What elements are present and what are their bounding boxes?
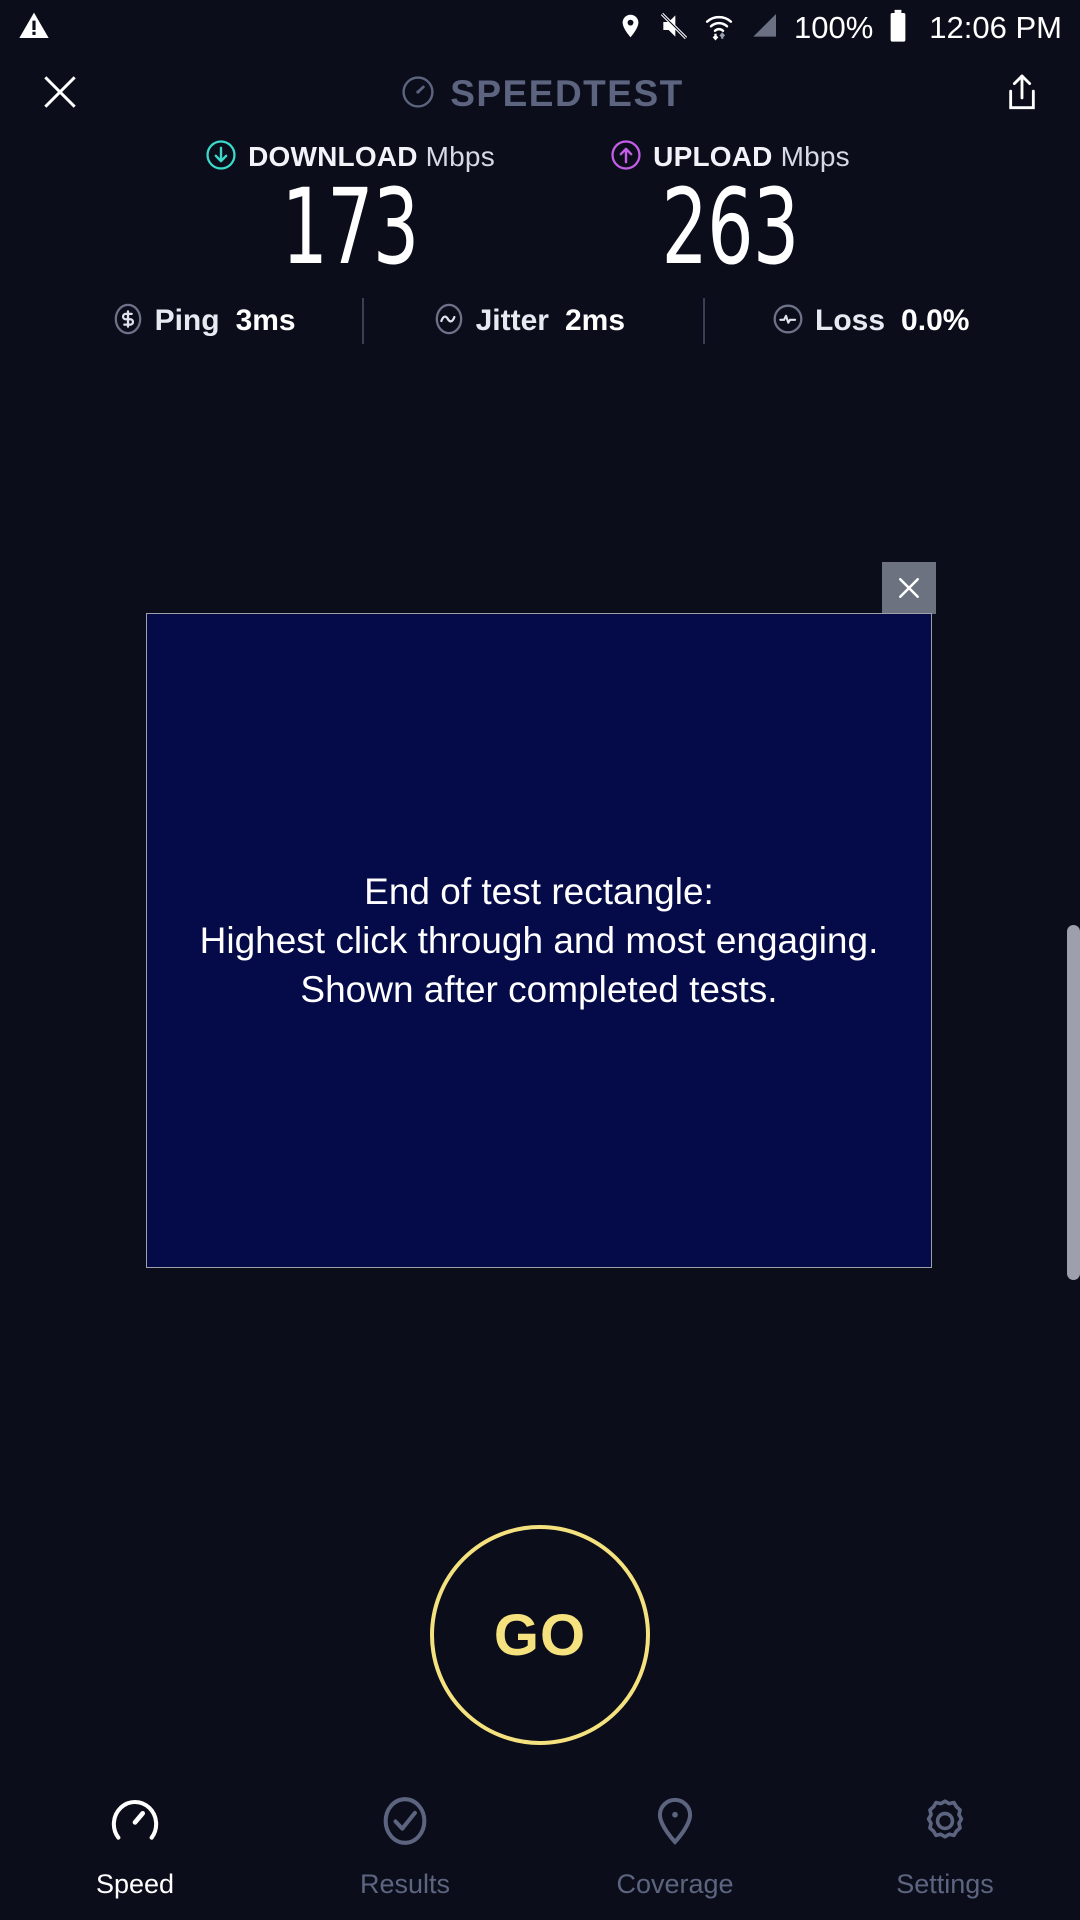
close-icon[interactable] [38,70,82,119]
volume-muted-icon [658,10,690,47]
clock-time: 12:06 PM [929,10,1062,46]
status-bar-right: 100% 12:06 PM [617,9,1062,48]
loss-metric: Loss 0.0% [771,302,969,341]
gear-icon [916,1794,974,1853]
download-value: 173 [202,174,498,280]
loss-icon [771,302,805,341]
nav-label-speed: Speed [96,1869,174,1900]
arrow-up-circle-icon [610,139,642,176]
bottom-navigation: Speed Results Coverage [0,1780,1080,1920]
nav-item-speed[interactable]: Speed [0,1794,270,1900]
loss-value: 0.0% [901,304,969,338]
ping-value: 3ms [236,304,296,338]
speedometer-icon [106,1794,164,1853]
location-pin-icon [646,1794,704,1853]
status-bar-left [18,10,50,47]
page-title: SPEEDTEST [450,73,684,115]
jitter-label: Jitter [476,304,549,338]
metrics-section: DOWNLOAD Mbps 173 UPLOAD Mbps 263 [0,138,1080,280]
check-circle-icon [376,1794,434,1853]
speedometer-icon [400,74,436,115]
battery-percent: 100% [794,10,873,46]
jitter-value: 2ms [565,304,625,338]
close-icon [894,573,924,603]
download-metric: DOWNLOAD Mbps 173 [160,138,540,280]
nav-item-results[interactable]: Results [270,1794,540,1900]
app-header: SPEEDTEST [0,56,1080,132]
app-title-group: SPEEDTEST [400,73,684,115]
nav-label-results: Results [360,1869,450,1900]
nav-label-settings: Settings [896,1869,994,1900]
connection-quality-row: Ping 3ms Jitter 2ms [0,298,1080,344]
wifi-icon [704,10,734,47]
battery-full-icon [887,9,909,48]
ping-icon [111,302,145,341]
ad-close-button[interactable] [882,562,936,614]
go-button-label: GO [494,1602,586,1669]
upload-value: 263 [582,174,878,280]
app-screen: 100% 12:06 PM SP [0,0,1080,1920]
divider [362,298,364,344]
status-bar: 100% 12:06 PM [0,0,1080,56]
ping-label: Ping [155,304,220,338]
jitter-metric: Jitter 2ms [432,302,625,341]
loss-label: Loss [815,304,885,338]
advertisement-banner[interactable]: End of test rectangle: Highest click thr… [146,613,932,1268]
nav-item-settings[interactable]: Settings [810,1794,1080,1900]
jitter-icon [432,302,466,341]
warning-triangle-icon [18,10,50,47]
nav-label-coverage: Coverage [616,1869,733,1900]
divider [703,298,705,344]
scrollbar-thumb[interactable] [1067,925,1080,1280]
go-button[interactable]: GO [430,1525,650,1745]
cellular-signal-icon [748,10,780,47]
upload-metric: UPLOAD Mbps 263 [540,138,920,280]
ping-metric: Ping 3ms [111,302,296,341]
share-icon[interactable] [1002,70,1042,119]
arrow-down-circle-icon [205,139,237,176]
location-pin-icon [617,10,644,47]
nav-item-coverage[interactable]: Coverage [540,1794,810,1900]
ad-text: End of test rectangle: Highest click thr… [200,867,879,1015]
